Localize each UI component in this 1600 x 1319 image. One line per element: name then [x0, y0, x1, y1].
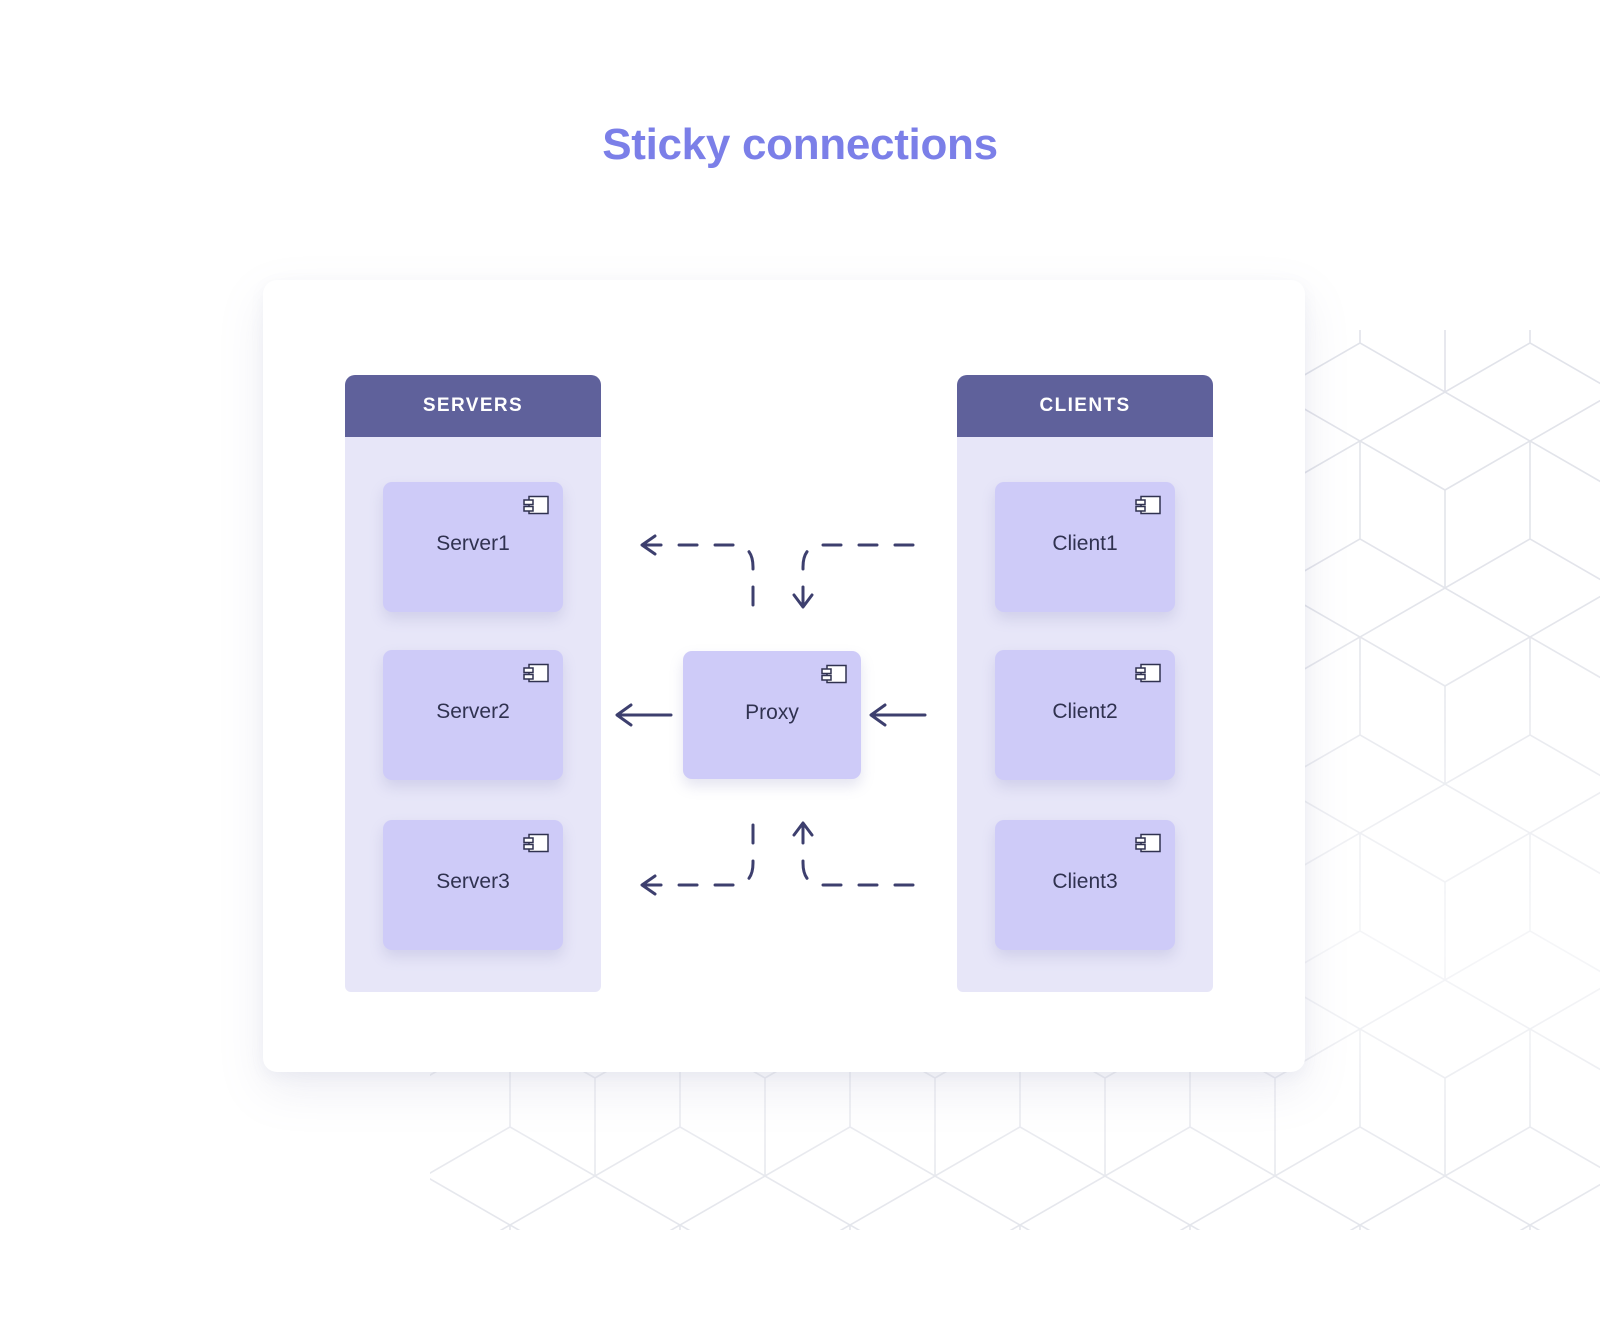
arrowhead-up-proxy: [794, 823, 812, 835]
node-client1[interactable]: Client1: [995, 482, 1175, 612]
node-server1[interactable]: Server1: [383, 482, 563, 612]
connector-client3-to-proxy: [803, 825, 913, 885]
arrowhead-left-server3: [642, 876, 655, 894]
connector-client1-to-proxy: [803, 545, 913, 605]
arrowhead-left-server1: [642, 536, 655, 554]
node-label: Client1: [995, 532, 1175, 556]
column-header-servers: SERVERS: [345, 375, 601, 437]
uml-component-icon: [1133, 831, 1163, 855]
column-servers: SERVERS Server1: [345, 375, 601, 992]
node-label: Server3: [383, 870, 563, 894]
diagram-stage: Sticky connections SERVERS Server1: [0, 0, 1600, 1319]
arrowhead-left-proxy: [871, 705, 885, 725]
node-client3[interactable]: Client3: [995, 820, 1175, 950]
diagram-card: SERVERS Server1: [263, 280, 1305, 1072]
uml-component-icon: [521, 831, 551, 855]
node-server2[interactable]: Server2: [383, 650, 563, 780]
node-label: Server2: [383, 700, 563, 724]
connector-proxy-to-server3: [645, 825, 753, 885]
node-proxy[interactable]: Proxy: [683, 651, 861, 779]
uml-component-icon: [521, 493, 551, 517]
column-header-clients: CLIENTS: [957, 375, 1213, 437]
column-clients: CLIENTS Client1: [957, 375, 1213, 992]
node-label: Client3: [995, 870, 1175, 894]
node-label: Server1: [383, 532, 563, 556]
node-client2[interactable]: Client2: [995, 650, 1175, 780]
connector-proxy-to-server1: [645, 545, 753, 605]
node-server3[interactable]: Server3: [383, 820, 563, 950]
uml-component-icon: [1133, 661, 1163, 685]
arrowhead-down-proxy: [794, 595, 812, 607]
arrowhead-left-server2: [617, 705, 631, 725]
uml-component-icon: [521, 661, 551, 685]
uml-component-icon: [819, 662, 849, 686]
node-label: Client2: [995, 700, 1175, 724]
page-title: Sticky connections: [0, 120, 1600, 170]
uml-component-icon: [1133, 493, 1163, 517]
node-label: Proxy: [683, 701, 861, 725]
